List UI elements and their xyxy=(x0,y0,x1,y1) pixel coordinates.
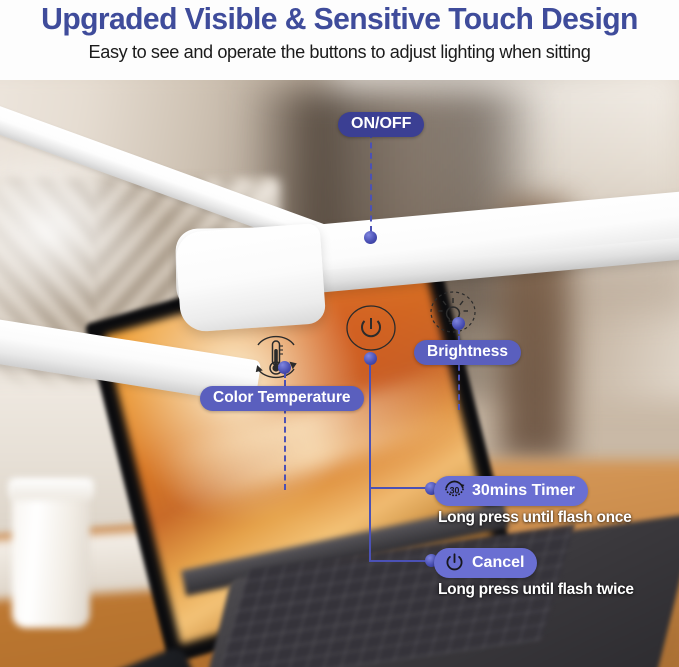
callout-brightness[interactable]: Brightness xyxy=(414,340,521,365)
callout-label: Cancel xyxy=(472,554,524,572)
header: Upgraded Visible & Sensitive Touch Desig… xyxy=(0,0,679,80)
callout-label: Brightness xyxy=(427,343,508,361)
product-infographic: Upgraded Visible & Sensitive Touch Desig… xyxy=(0,0,679,667)
callout-dot-on-off xyxy=(364,231,377,244)
power-icon xyxy=(443,551,466,574)
page-subtitle: Easy to see and operate the buttons to a… xyxy=(7,41,672,63)
callout-label: ON/OFF xyxy=(351,115,411,133)
timer-30-icon: 30 xyxy=(443,479,466,502)
callout-caption-timer: Long press until flash once xyxy=(438,509,631,527)
brightness-button[interactable] xyxy=(427,288,479,341)
bulb-icon xyxy=(427,288,479,336)
on-off-button[interactable] xyxy=(344,302,398,359)
callout-dot-brightness xyxy=(452,317,465,330)
callout-label: 30mins Timer xyxy=(472,482,575,500)
timer-value: 30 xyxy=(450,486,460,496)
callout-line-timer-branch xyxy=(369,487,431,489)
callout-timer[interactable]: 30 30mins Timer xyxy=(434,476,588,506)
callout-color-temperature[interactable]: Color Temperature xyxy=(200,386,364,411)
page-title: Upgraded Visible & Sensitive Touch Desig… xyxy=(10,1,669,37)
callout-dot-color-temperature xyxy=(278,361,291,374)
callout-line-color-temperature-b xyxy=(284,398,286,490)
callout-on-off[interactable]: ON/OFF xyxy=(338,112,424,137)
callout-line-on-off xyxy=(370,132,372,232)
callout-caption-cancel: Long press until flash twice xyxy=(438,581,634,599)
thermometer-rotate-icon xyxy=(246,329,306,385)
lamp-control-head xyxy=(175,223,327,333)
product-photo xyxy=(0,80,679,667)
color-temperature-button[interactable] xyxy=(246,329,306,390)
callout-cancel[interactable]: Cancel xyxy=(434,548,537,578)
power-icon xyxy=(344,302,398,354)
callout-line-long-press-vertical xyxy=(369,362,371,562)
callout-dot-long-press xyxy=(364,352,377,365)
coffee-tumbler xyxy=(12,482,90,628)
coffee-tumbler-lid xyxy=(8,478,94,500)
callout-line-cancel-branch xyxy=(369,560,431,562)
callout-label: Color Temperature xyxy=(213,389,351,407)
